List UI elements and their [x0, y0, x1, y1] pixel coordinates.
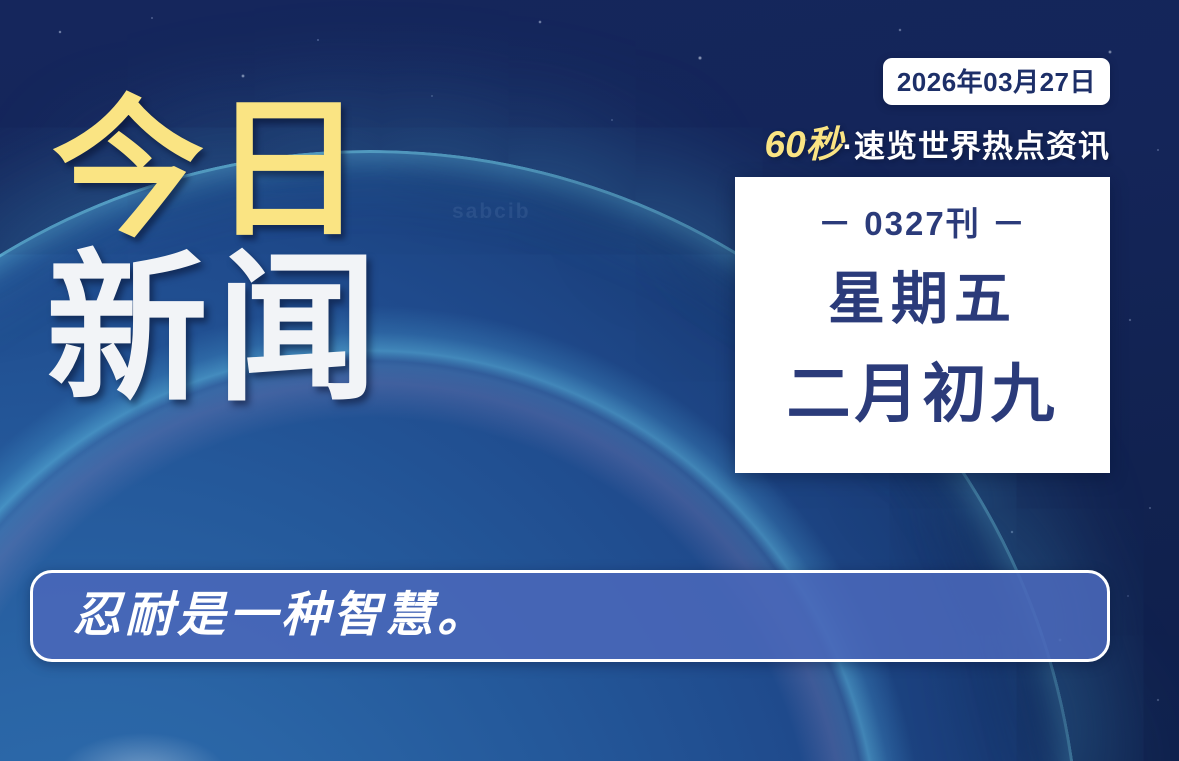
quote-bar: 忍耐是一种智慧。 [30, 570, 1110, 662]
right-info-column: 2026年03月27日 60秒·速览世界热点资讯 － 0327刊 － 星期五 二… [735, 58, 1110, 473]
quote-text: 忍耐是一种智慧。 [73, 592, 489, 640]
watermark-text: sabcib [452, 200, 531, 224]
tagline-accent-text: 60秒 [765, 124, 843, 165]
tagline: 60秒·速览世界热点资讯 [735, 126, 1110, 163]
issue-info-card: － 0327刊 － 星期五 二月初九 [735, 177, 1110, 473]
weekday-label: 星期五 [828, 271, 1017, 328]
poster-headline: 今日 新闻 [52, 96, 386, 410]
issue-number-label: － 0327刊 － [818, 197, 1027, 245]
lunar-date-label: 二月初九 [787, 362, 1059, 426]
headline-line-today: 今日 [52, 96, 386, 245]
tagline-rest-text: ·速览世界热点资讯 [843, 129, 1110, 164]
date-badge: 2026年03月27日 [883, 58, 1110, 105]
news-poster: sabcib 今日 新闻 2026年03月27日 60秒·速览世界热点资讯 － … [0, 0, 1179, 761]
headline-line-news: 新闻 [46, 251, 386, 410]
